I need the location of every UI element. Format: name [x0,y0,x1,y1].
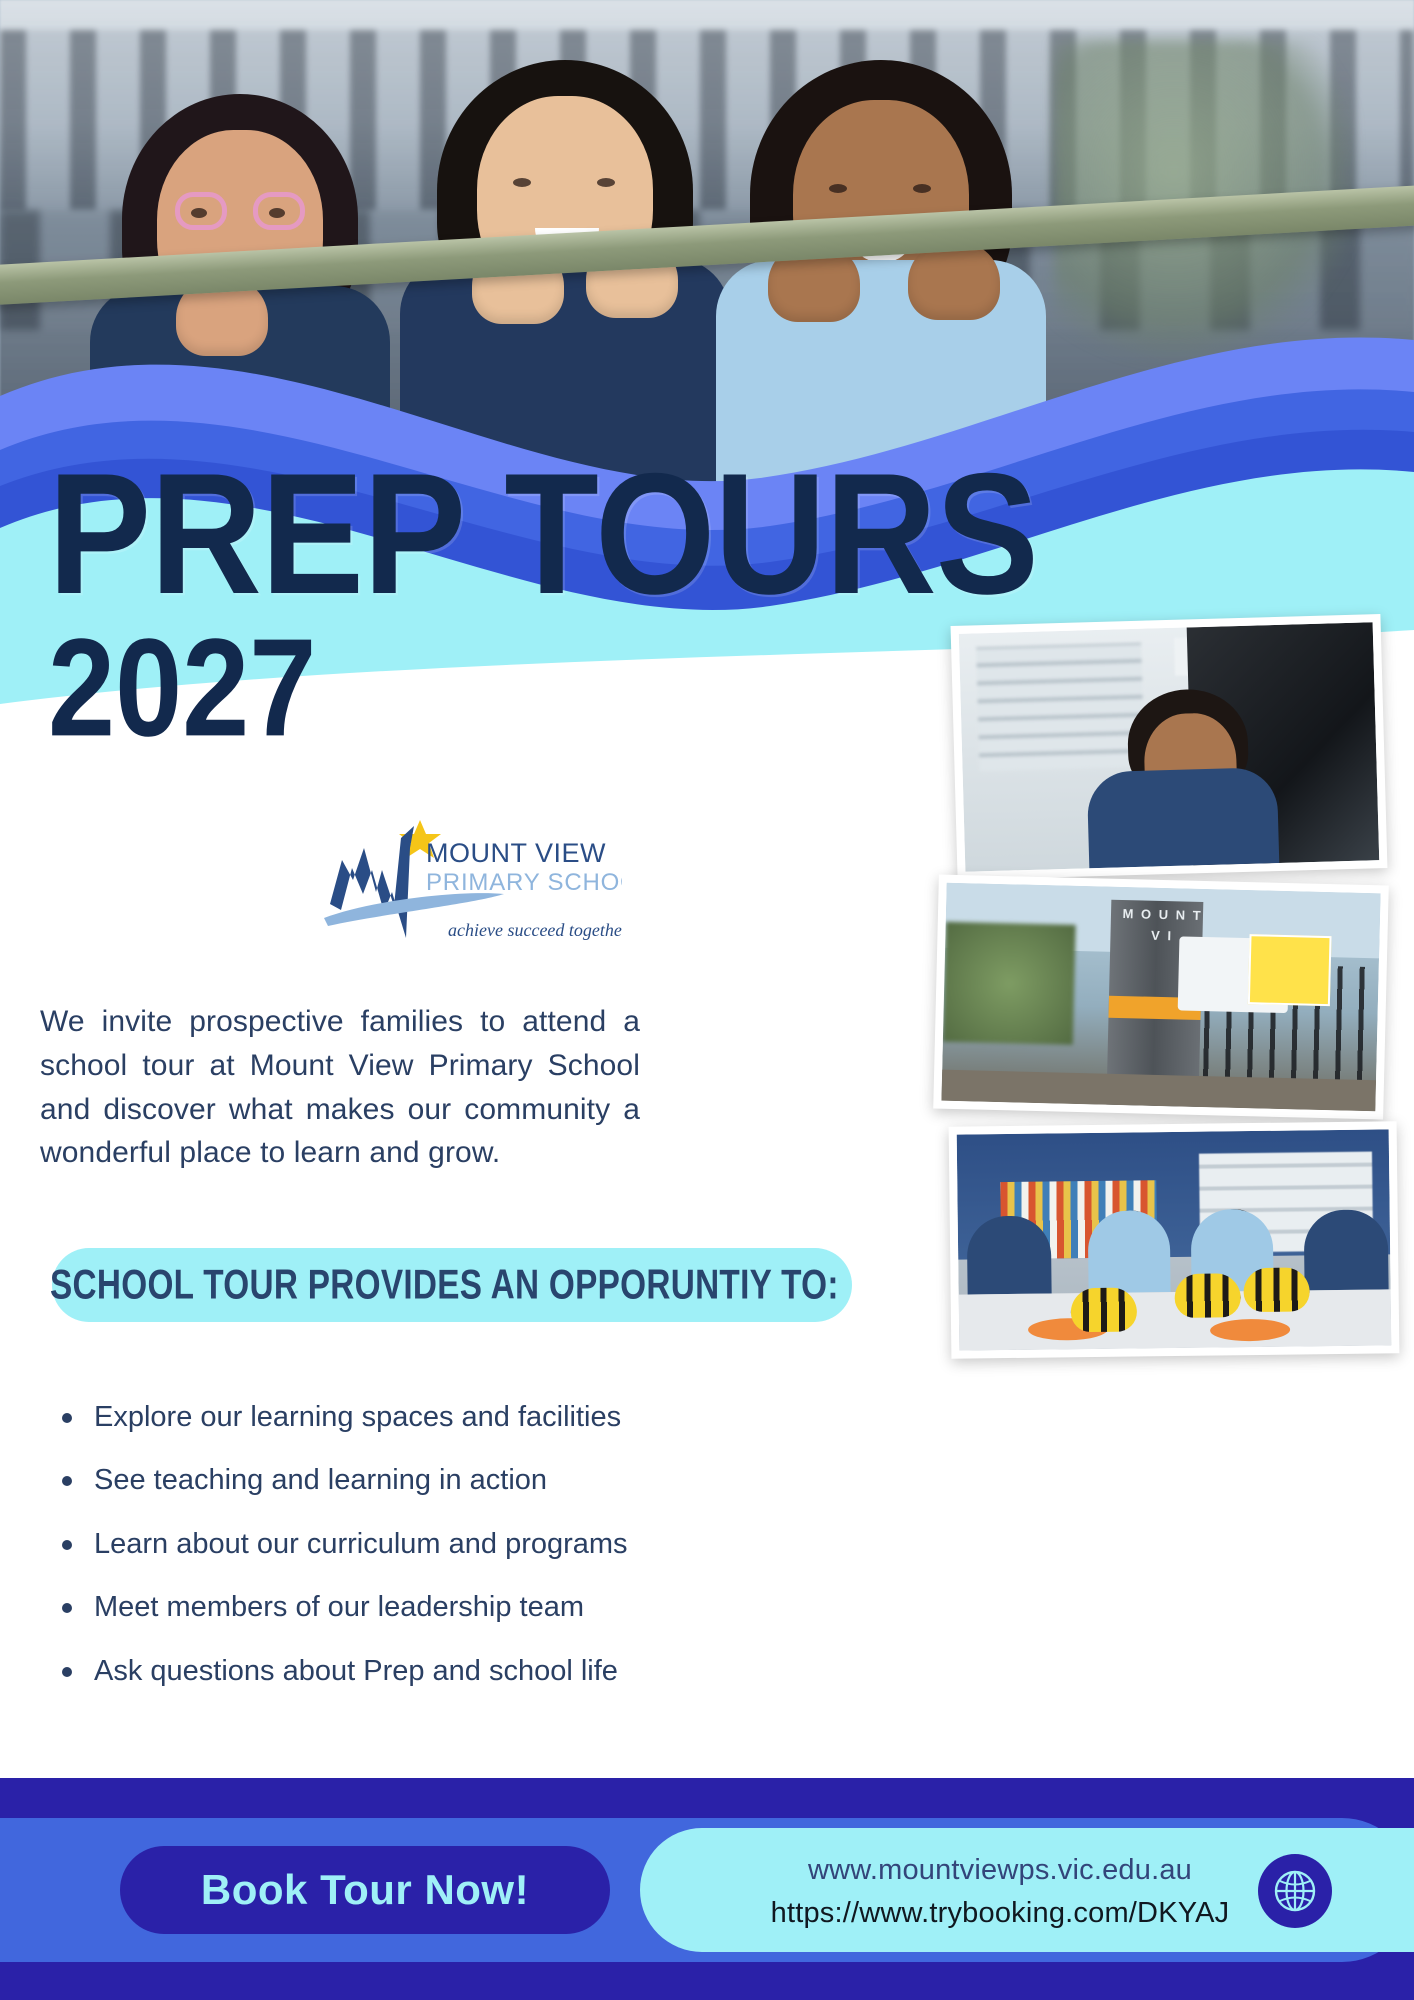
student-eye [513,178,531,187]
student-uniform [1303,1209,1388,1290]
bee-bot-robot [1174,1273,1241,1318]
poster-year: 2027 [48,625,1019,750]
glasses-lens-left [175,192,227,230]
footer-bar: Book Tour Now! www.mountviewps.vic.edu.a… [0,1778,1414,2000]
student-uniform [966,1215,1051,1294]
student-eye [913,184,931,193]
poster-title: PREP TOURS [48,455,1038,613]
school-logo: MOUNT VIEW PRIMARY SCHOOL achieve succee… [322,818,622,958]
prep-tours-poster: PREP TOURS 2027 MOUNT VIEW PRIMARY SCHOO… [0,0,1414,2000]
benefits-list: Explore our learning spaces and faciliti… [50,1400,670,1717]
student-uniform [1087,767,1280,868]
activity-mat [1210,1318,1290,1341]
photo-student-interactive-board [951,614,1388,880]
intro-paragraph: We invite prospective families to attend… [40,1000,640,1175]
student-uniform [1087,1210,1170,1293]
logo-line1: MOUNT VIEW [426,838,606,868]
list-item: Learn about our curriculum and programs [50,1527,670,1562]
student-hand [908,242,1000,320]
logo-tagline: achieve succeed together [448,920,622,940]
student-eye [597,178,615,187]
section-heading-text: SCHOOL TOUR PROVIDES AN OPPORUNTIY TO: [50,1262,839,1310]
photo-school-entrance-sign: M O U N T V I [933,875,1389,1120]
book-tour-button[interactable]: Book Tour Now! [120,1846,610,1934]
list-item: Meet members of our leadership team [50,1590,670,1625]
logo-line2: PRIMARY SCHOOL [426,869,622,896]
list-item: See teaching and learning in action [50,1463,670,1498]
student-eye [829,184,847,193]
glasses-lens-right [253,192,305,230]
photo-collage: M O U N T V I [944,612,1414,1372]
notice-sign [1248,934,1332,1006]
bee-bot-robot [1071,1287,1138,1332]
garden-shrubs [943,922,1076,1045]
booking-url[interactable]: https://www.trybooking.com/DKYAJ [771,1897,1230,1930]
bee-bot-robot [1243,1268,1310,1313]
classroom-shelf [976,643,1145,771]
contact-urls: www.mountviewps.vic.edu.au https://www.t… [690,1840,1310,1944]
list-item: Explore our learning spaces and faciliti… [50,1400,670,1435]
photo-students-bee-bots [949,1121,1400,1358]
list-item: Ask questions about Prep and school life [50,1654,670,1689]
globe-icon[interactable] [1258,1854,1332,1928]
poster-title-block: PREP TOURS 2027 [48,455,982,730]
website-url[interactable]: www.mountviewps.vic.edu.au [808,1854,1192,1887]
